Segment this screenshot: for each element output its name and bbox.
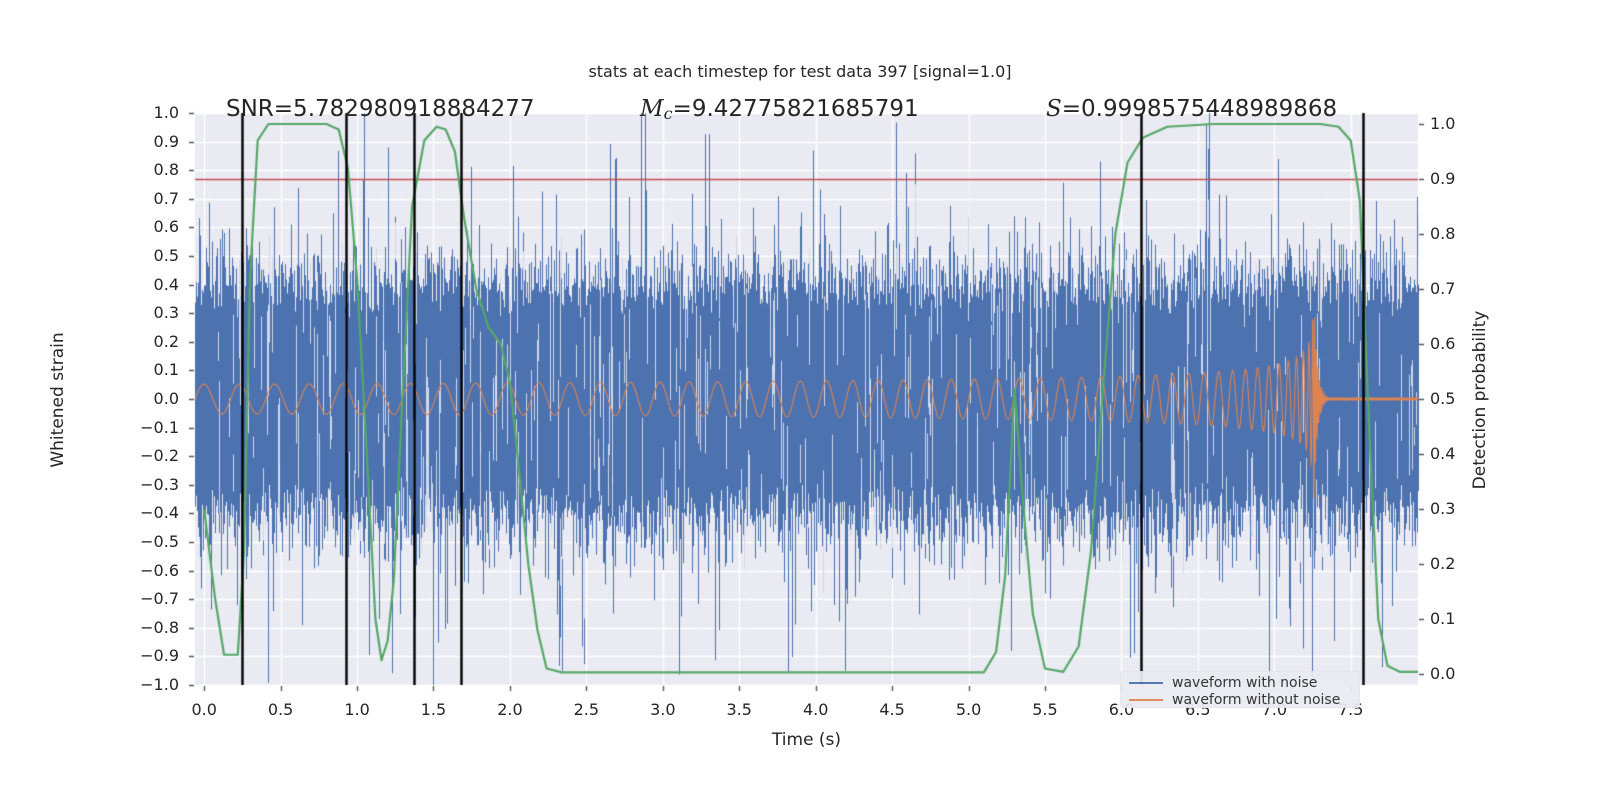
- y-tick-label-right: 0.6: [1430, 334, 1490, 353]
- y-tick-label-left: −0.7: [119, 589, 179, 608]
- y-tick-label-left: −0.6: [119, 561, 179, 580]
- y-tick-label-left: −0.4: [119, 503, 179, 522]
- y-tick-label-right: 0.3: [1430, 499, 1490, 518]
- y-tick-label-left: 0.4: [119, 275, 179, 294]
- y-tick-label-right: 0.7: [1430, 279, 1490, 298]
- y-tick-label-left: 0.0: [119, 389, 179, 408]
- y-tick-label-left: 1.0: [119, 103, 179, 122]
- y-tick-label-left: 0.1: [119, 360, 179, 379]
- legend-label: waveform with noise: [1172, 675, 1317, 691]
- y-tick-label-left: 0.5: [119, 246, 179, 265]
- y-tick-label-right: 0.5: [1430, 389, 1490, 408]
- legend-entry-waveform-with-noise: waveform with noise: [1129, 674, 1317, 691]
- x-tick-label: 1.0: [327, 700, 387, 719]
- x-tick-label: 4.5: [862, 700, 922, 719]
- chart-legend: waveform with noise waveform without noi…: [1120, 671, 1360, 708]
- x-tick-label: 3.5: [709, 700, 769, 719]
- legend-swatch-line: [1129, 682, 1163, 684]
- x-tick-label: 0.0: [174, 700, 234, 719]
- x-tick-label: 5.0: [939, 700, 999, 719]
- y-tick-label-left: −0.5: [119, 532, 179, 551]
- y-tick-label-right: 0.2: [1430, 554, 1490, 573]
- chart-canvas: [0, 0, 1600, 800]
- x-tick-label: 2.0: [480, 700, 540, 719]
- y-tick-label-right: 0.4: [1430, 444, 1490, 463]
- y-tick-label-left: −0.3: [119, 475, 179, 494]
- x-tick-label: 1.5: [403, 700, 463, 719]
- x-tick-label: 0.5: [251, 700, 311, 719]
- y-tick-label-left: −0.9: [119, 646, 179, 665]
- legend-label: waveform without noise: [1172, 692, 1340, 708]
- legend-swatch-line: [1129, 699, 1163, 701]
- y-tick-label-left: 0.2: [119, 332, 179, 351]
- y-tick-label-left: −1.0: [119, 675, 179, 694]
- x-tick-label: 5.5: [1015, 700, 1075, 719]
- y-tick-label-left: 0.8: [119, 160, 179, 179]
- y-tick-label-right: 0.1: [1430, 609, 1490, 628]
- y-tick-label-left: 0.7: [119, 189, 179, 208]
- figure-root: stats at each timestep for test data 397…: [0, 0, 1600, 800]
- y-tick-label-right: 0.8: [1430, 224, 1490, 243]
- y-tick-label-left: 0.9: [119, 132, 179, 151]
- y-tick-label-right: 1.0: [1430, 114, 1490, 133]
- y-tick-label-left: −0.1: [119, 418, 179, 437]
- y-tick-label-left: −0.8: [119, 618, 179, 637]
- x-tick-label: 4.0: [786, 700, 846, 719]
- x-tick-label: 2.5: [556, 700, 616, 719]
- y-tick-label-left: 0.6: [119, 217, 179, 236]
- x-tick-label: 3.0: [633, 700, 693, 719]
- y-tick-label-left: 0.3: [119, 303, 179, 322]
- y-tick-label-right: 0.9: [1430, 169, 1490, 188]
- y-tick-label-left: −0.2: [119, 446, 179, 465]
- legend-entry-waveform-without-noise: waveform without noise: [1129, 691, 1340, 708]
- y-tick-label-right: 0.0: [1430, 664, 1490, 683]
